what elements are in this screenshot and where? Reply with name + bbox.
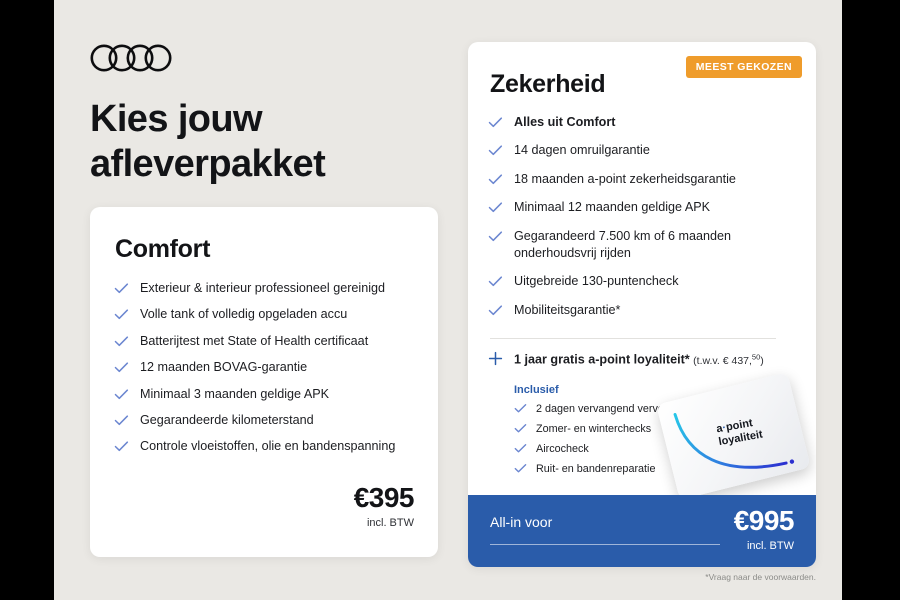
bonus-value-note: (t.w.v. € 437,50) bbox=[693, 355, 764, 367]
footer-rule bbox=[490, 544, 720, 545]
screenshot-stage: Kies jouwafleverpakket Comfort Exterieur… bbox=[0, 0, 900, 600]
list-item-label: Gegarandeerde kilometerstand bbox=[140, 413, 314, 427]
list-item-label: Exterieur & interieur professioneel gere… bbox=[140, 281, 385, 295]
list-item: Uitgebreide 130-puntencheck bbox=[488, 273, 798, 290]
check-icon bbox=[114, 361, 129, 374]
comfort-feature-list: Exterieur & interieur professioneel gere… bbox=[114, 280, 414, 465]
list-item-label: Volle tank of volledig opgeladen accu bbox=[140, 307, 347, 321]
check-icon bbox=[514, 403, 527, 414]
check-icon bbox=[488, 275, 503, 288]
list-item: Alles uit Comfort bbox=[488, 114, 798, 131]
check-icon bbox=[114, 388, 129, 401]
list-item: Batterijtest met State of Health certifi… bbox=[114, 333, 414, 350]
list-item-label: Mobiliteitsgarantie* bbox=[514, 303, 620, 317]
plus-icon bbox=[488, 351, 503, 366]
comfort-price: €395 bbox=[354, 484, 414, 512]
list-item-label: Batterijtest met State of Health certifi… bbox=[140, 334, 368, 348]
inclusief-title: Inclusief bbox=[514, 384, 714, 396]
list-item: 14 dagen omruilgarantie bbox=[488, 142, 798, 159]
zekerheid-price-vat: incl. BTW bbox=[734, 540, 794, 552]
check-icon bbox=[114, 282, 129, 295]
check-icon bbox=[488, 201, 503, 214]
check-icon bbox=[514, 463, 527, 474]
page-canvas: Kies jouwafleverpakket Comfort Exterieur… bbox=[54, 0, 842, 600]
list-item-label: Controle vloeistoffen, olie en bandenspa… bbox=[140, 439, 395, 453]
zekerheid-title: Zekerheid bbox=[490, 70, 605, 99]
list-item-label: Minimaal 12 maanden geldige APK bbox=[514, 200, 710, 214]
list-item: Minimaal 12 maanden geldige APK bbox=[488, 199, 798, 216]
list-item-label: Minimaal 3 maanden geldige APK bbox=[140, 387, 329, 401]
list-item-label: 12 maanden BOVAG-garantie bbox=[140, 360, 307, 374]
list-item: Gegarandeerd 7.500 km of 6 maanden onder… bbox=[488, 228, 798, 263]
bonus-label: 1 jaar gratis a-point loyaliteit* bbox=[514, 353, 690, 367]
check-icon bbox=[114, 414, 129, 427]
page-title: Kies jouwafleverpakket bbox=[90, 97, 420, 187]
list-item-label: 2 dagen vervangend vervoer bbox=[536, 403, 673, 415]
left-column: Kies jouwafleverpakket Comfort Exterieur… bbox=[90, 0, 474, 600]
list-item: 18 maanden a-point zekerheidsgarantie bbox=[488, 171, 798, 188]
comfort-price-vat: incl. BTW bbox=[354, 517, 414, 529]
list-item-label: 18 maanden a-point zekerheidsgarantie bbox=[514, 172, 736, 186]
list-item: 12 maanden BOVAG-garantie bbox=[114, 359, 414, 376]
audi-rings-logo bbox=[90, 42, 178, 74]
list-item-label: Aircocheck bbox=[536, 443, 589, 455]
divider bbox=[490, 338, 776, 339]
check-icon bbox=[514, 443, 527, 454]
check-icon bbox=[488, 304, 503, 317]
list-item-label: Gegarandeerd 7.500 km of 6 maanden onder… bbox=[514, 229, 731, 260]
check-icon bbox=[488, 230, 503, 243]
list-item: Exterieur & interieur professioneel gere… bbox=[114, 280, 414, 297]
list-item-label: Alles uit Comfort bbox=[514, 115, 615, 129]
allin-label: All-in voor bbox=[490, 514, 552, 530]
list-item-label: Uitgebreide 130-puntencheck bbox=[514, 274, 679, 288]
check-icon bbox=[488, 173, 503, 186]
zekerheid-package-card[interactable]: MEEST GEKOZEN Zekerheid Alles uit Comfor… bbox=[468, 42, 816, 567]
zekerheid-feature-list: Alles uit Comfort 14 dagen omruilgaranti… bbox=[488, 114, 798, 330]
list-item: Volle tank of volledig opgeladen accu bbox=[114, 306, 414, 323]
comfort-package-card[interactable]: Comfort Exterieur & interieur profession… bbox=[90, 207, 438, 557]
list-item-label: 14 dagen omruilgarantie bbox=[514, 143, 650, 157]
list-item: Controle vloeistoffen, olie en bandenspa… bbox=[114, 438, 414, 455]
zekerheid-price-block: €995 incl. BTW bbox=[734, 507, 794, 552]
comfort-title: Comfort bbox=[115, 235, 210, 264]
list-item-label: Ruit- en bandenreparatie bbox=[536, 463, 655, 475]
comfort-price-block: €395 incl. BTW bbox=[354, 484, 414, 529]
list-item: Mobiliteitsgarantie* bbox=[488, 302, 798, 319]
list-item-label: Zomer- en winterchecks bbox=[536, 423, 651, 435]
list-item: Gegarandeerde kilometerstand bbox=[114, 412, 414, 429]
check-icon bbox=[114, 335, 129, 348]
check-icon bbox=[488, 144, 503, 157]
zekerheid-price-footer: All-in voor €995 incl. BTW bbox=[468, 495, 816, 567]
check-icon bbox=[114, 308, 129, 321]
terms-footnote: *Vraag naar de voorwaarden. bbox=[468, 572, 816, 582]
status-badge: MEEST GEKOZEN bbox=[686, 56, 802, 78]
check-icon bbox=[514, 423, 527, 434]
zekerheid-price: €995 bbox=[734, 507, 794, 535]
check-icon bbox=[114, 440, 129, 453]
list-item: Minimaal 3 maanden geldige APK bbox=[114, 386, 414, 403]
bonus-loyalty-row: 1 jaar gratis a-point loyaliteit* (t.w.v… bbox=[488, 352, 800, 367]
check-icon bbox=[488, 116, 503, 129]
